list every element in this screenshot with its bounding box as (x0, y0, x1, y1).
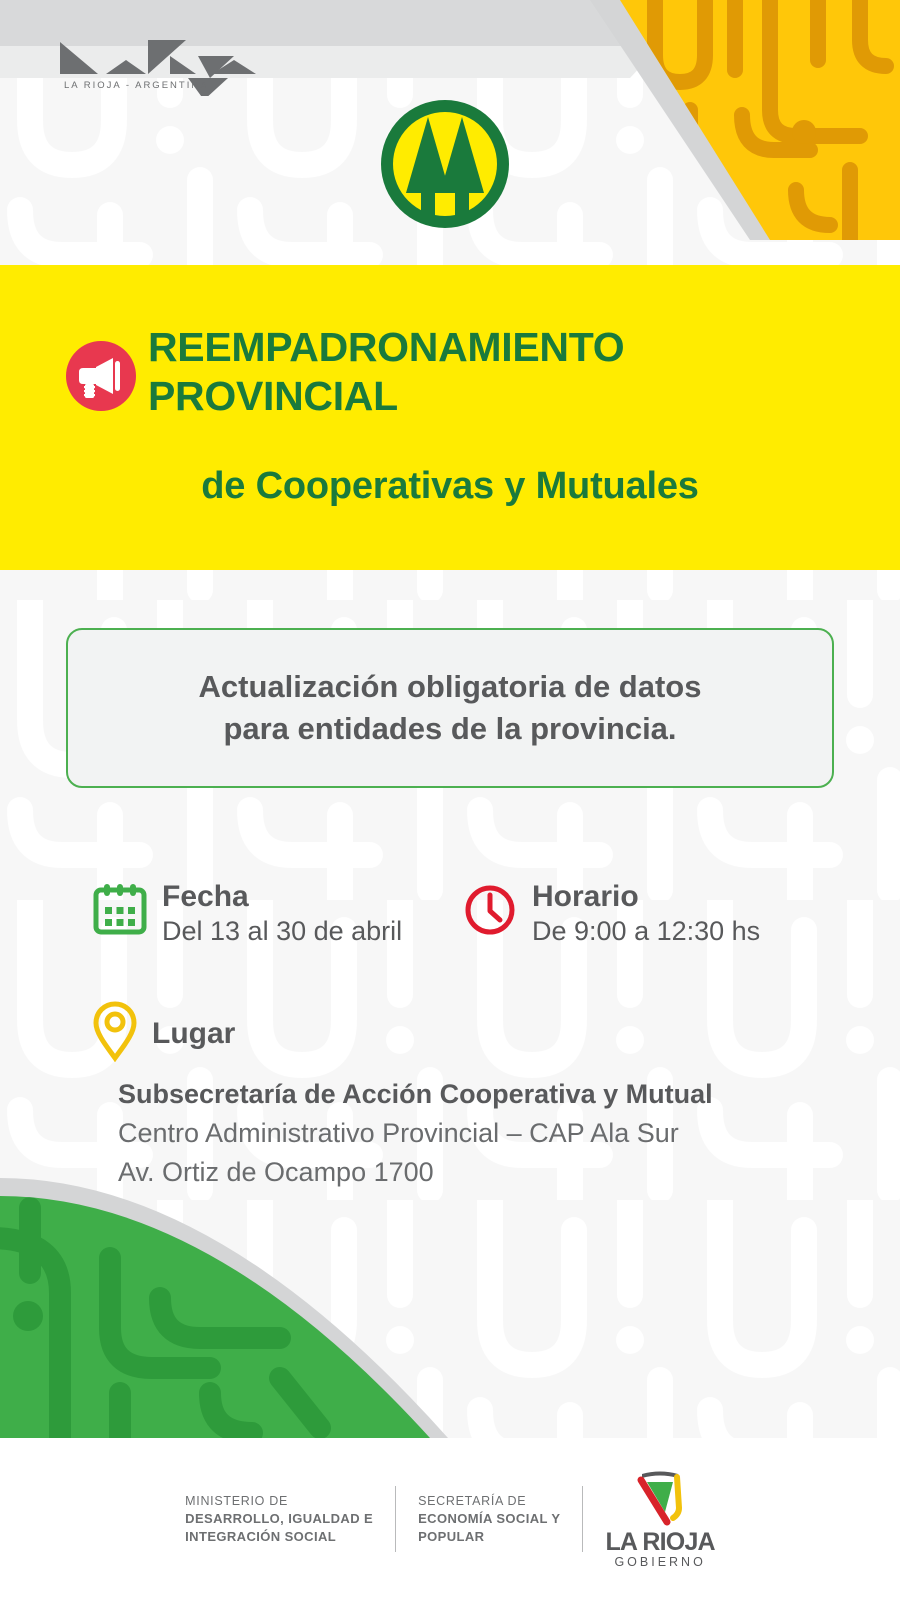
map-pin-icon (92, 1000, 138, 1067)
lugar-label: Lugar (152, 1017, 235, 1051)
decorative-yellow-corner (560, 0, 900, 240)
footer: MINISTERIO DE DESARROLLO, IGUALDAD E INT… (0, 1438, 900, 1600)
la-rioja-shield-icon (623, 1468, 697, 1530)
details-section: Fecha Del 13 al 30 de abril Horario De 9… (0, 880, 900, 980)
callout-line-1: Actualización obligatoria de datos (199, 666, 702, 708)
province-tagline: LA RIOJA - ARGENTINA (64, 80, 209, 91)
horario-value: De 9:00 a 12:30 hs (532, 914, 760, 948)
secretariat-bold-line-1: ECONOMÍA SOCIAL Y (418, 1510, 560, 1528)
headline-banner: REEMPADRONAMIENTO PROVINCIAL de Cooperat… (0, 265, 900, 570)
footer-ministry: MINISTERIO DE DESARROLLO, IGUALDAD E INT… (185, 1493, 373, 1546)
fecha-value: Del 13 al 30 de abril (162, 914, 402, 948)
callout-line-2: para entidades de la provincia. (223, 708, 676, 750)
detail-lugar: Lugar Subsecretaría de Acción Cooperativ… (92, 1000, 713, 1192)
footer-secretariat: SECRETARÍA DE ECONOMÍA SOCIAL Y POPULAR (418, 1493, 560, 1546)
poster-root: LA RIOJA - ARGENTINA (0, 0, 900, 1600)
ministry-bold-line-2: INTEGRACIÓN SOCIAL (185, 1528, 373, 1546)
footer-gov-logo: LA RIOJA GOBIERNO (605, 1468, 714, 1570)
banner-title-line1: REEMPADRONAMIENTO (148, 324, 624, 370)
fecha-label: Fecha (162, 880, 402, 914)
ministry-bold-line-1: DESARROLLO, IGUALDAD E (185, 1510, 373, 1528)
decorative-green-corner (0, 1178, 470, 1438)
callout-box: Actualización obligatoria de datos para … (66, 628, 834, 788)
horario-label: Horario (532, 880, 760, 914)
gov-logo-word-2: GOBIERNO (614, 1554, 705, 1570)
detail-fecha: Fecha Del 13 al 30 de abril (92, 880, 402, 948)
banner-title: REEMPADRONAMIENTO PROVINCIAL (148, 323, 848, 421)
lugar-line-1: Subsecretaría de Acción Cooperativa y Mu… (118, 1075, 713, 1114)
calendar-icon (92, 880, 148, 941)
megaphone-icon (66, 341, 136, 411)
cooperative-pines-emblem (378, 97, 512, 231)
clock-icon (462, 880, 518, 941)
detail-horario: Horario De 9:00 a 12:30 hs (462, 880, 760, 948)
banner-subtitle: de Cooperativas y Mutuales (0, 465, 900, 508)
secretariat-bold-line-2: POPULAR (418, 1528, 560, 1546)
footer-divider-1 (395, 1486, 396, 1552)
banner-title-line2: PROVINCIAL (148, 372, 848, 421)
secretariat-top-line: SECRETARÍA DE (418, 1493, 560, 1510)
lugar-line-3: Av. Ortiz de Ocampo 1700 (118, 1153, 713, 1192)
ministry-top-line: MINISTERIO DE (185, 1493, 373, 1510)
footer-divider-2 (582, 1486, 583, 1552)
gov-logo-word-1: LA RIOJA (605, 1530, 714, 1554)
lugar-line-2: Centro Administrativo Provincial – CAP A… (118, 1114, 713, 1153)
